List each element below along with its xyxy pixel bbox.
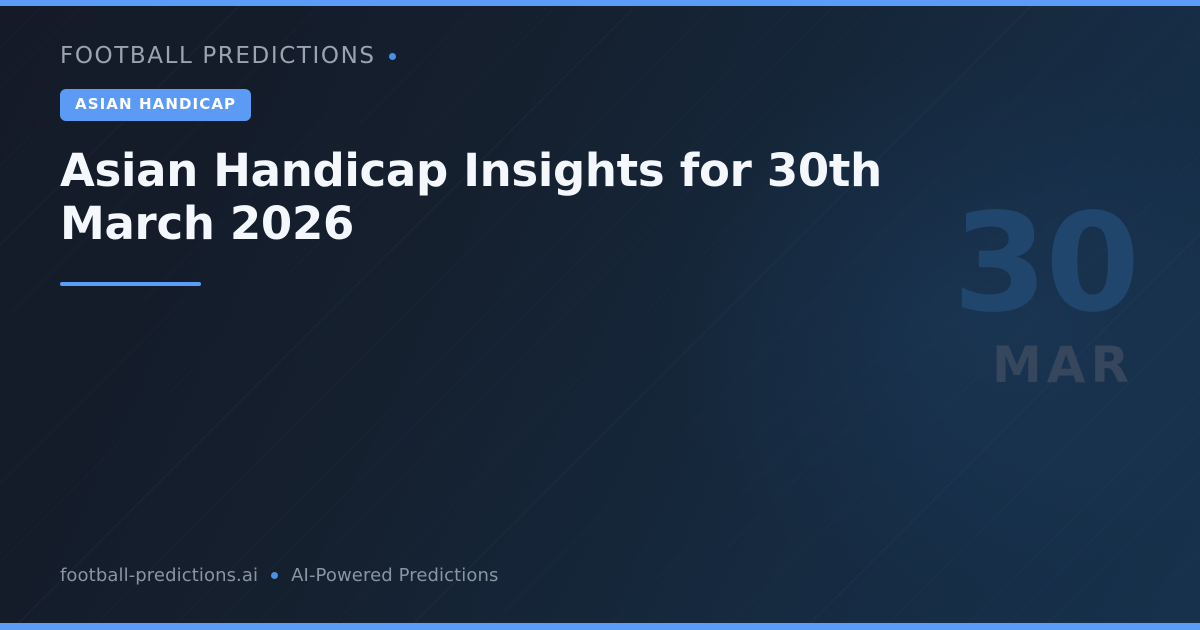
- eyebrow-row: FOOTBALL PREDICTIONS: [60, 42, 940, 70]
- dot-icon: [389, 53, 396, 60]
- top-accent-bar: [0, 0, 1200, 6]
- banner-content: FOOTBALL PREDICTIONS ASIAN HANDICAP Asia…: [60, 42, 940, 286]
- accent-divider: [60, 282, 201, 286]
- footer-tagline: AI-Powered Predictions: [291, 565, 498, 586]
- dot-icon: [271, 572, 278, 579]
- site-name: football-predictions.ai: [60, 565, 258, 586]
- bottom-accent-bar: [0, 623, 1200, 630]
- eyebrow-label: FOOTBALL PREDICTIONS: [60, 43, 376, 69]
- social-share-banner: 30 MAR FOOTBALL PREDICTIONS ASIAN HANDIC…: [0, 0, 1200, 630]
- page-title: Asian Handicap Insights for 30th March 2…: [60, 144, 920, 250]
- date-month: MAR: [718, 340, 1138, 390]
- banner-footer: football-predictions.ai AI-Powered Predi…: [60, 565, 499, 586]
- category-badge: ASIAN HANDICAP: [60, 89, 251, 121]
